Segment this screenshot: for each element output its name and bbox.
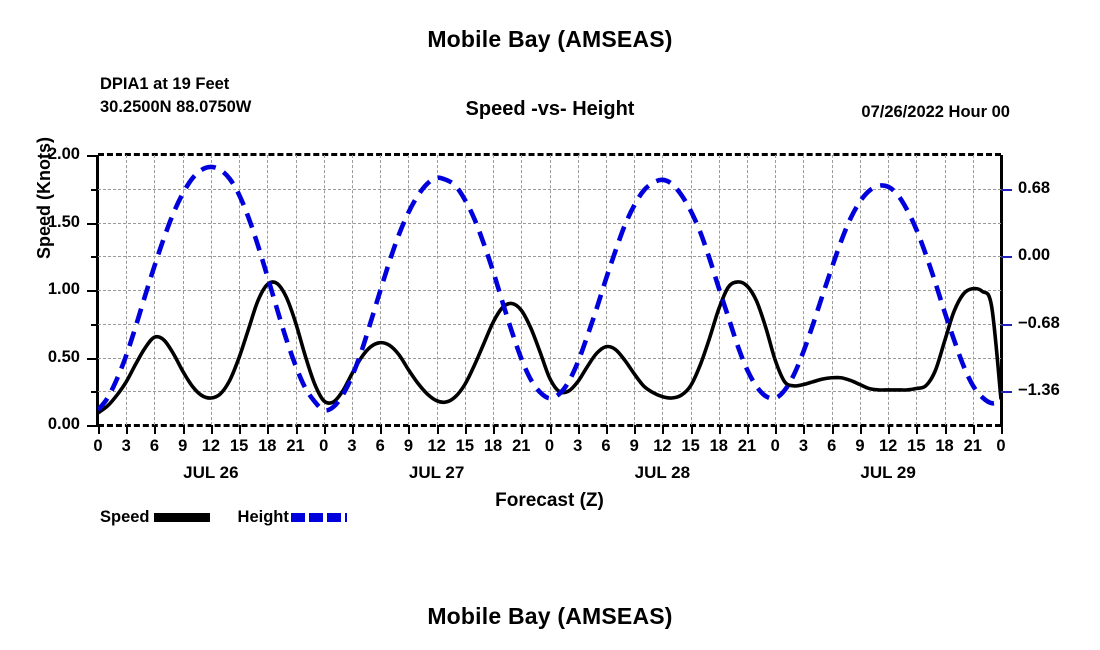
x-axis-tick [945,425,947,434]
x-axis-day-label: JUL 27 [367,463,507,483]
station-name-depth: DPIA1 at 19 Feet [100,73,251,96]
x-axis-tick [803,425,805,434]
x-axis-tick [98,425,100,434]
y-axis-right-tick [1001,189,1012,191]
y-axis-left-tick [87,155,98,157]
x-axis-tick [126,425,128,434]
legend-label-height: Height [238,508,289,527]
x-axis-tick [296,425,298,434]
y-axis-left-tick [87,223,98,225]
x-axis-tick [239,425,241,434]
legend-swatch-speed-line [154,513,210,522]
legend-item-speed: Speed [100,508,210,527]
x-axis-tick [1001,425,1003,434]
y-axis-right-tick [1001,256,1012,258]
data-curves [98,155,1001,425]
page-title-top: Mobile Bay (AMSEAS) [0,26,1100,53]
y-axis-left-tick [87,425,98,427]
x-axis-tick [832,425,834,434]
y-axis-right-tick [1001,324,1012,326]
x-axis-day-label: JUL 28 [592,463,732,483]
y-axis-left-minor-tick [91,256,98,258]
y-axis-left-tick-label: 0.00 [10,415,80,434]
x-axis-day-label: JUL 29 [818,463,958,483]
x-axis-tick-label: 0 [981,437,1021,456]
x-axis-tick [493,425,495,434]
chart-legend: Speed Height [100,508,347,527]
y-axis-left-minor-tick [91,391,98,393]
y-axis-left-minor-tick [91,189,98,191]
y-axis-left-title: Speed (Knots) [34,137,55,259]
x-axis-tick [973,425,975,434]
page-title-bottom: Mobile Bay (AMSEAS) [0,603,1100,630]
x-axis-tick [465,425,467,434]
plot-area: 0.000.501.001.502.00 −1.36−0.680.000.68 … [98,155,1001,425]
series-line-speed [98,282,1001,413]
x-axis-tick [380,425,382,434]
x-axis-tick [408,425,410,434]
y-axis-left-tick-label: 1.00 [10,280,80,299]
y-axis-left-tick [87,290,98,292]
y-axis-left-minor-tick [91,324,98,326]
x-axis-tick [183,425,185,434]
y-axis-right-tick-label: 0.00 [1018,246,1050,265]
x-axis-tick [606,425,608,434]
legend-label-speed: Speed [100,508,150,527]
x-axis-tick [521,425,523,434]
x-axis-tick [888,425,890,434]
x-axis-tick [578,425,580,434]
x-axis-tick [550,425,552,434]
y-axis-right-tick [1001,391,1012,393]
x-axis-tick [691,425,693,434]
x-axis-tick [437,425,439,434]
y-axis-left-tick-label: 0.50 [10,348,80,367]
model-run-timestamp: 07/26/2022 Hour 00 [861,103,1010,122]
y-axis-right-tick-label: −0.68 [1018,314,1060,333]
x-axis-tick [860,425,862,434]
y-axis-right-tick-label: −1.36 [1018,381,1060,400]
x-axis-tick [775,425,777,434]
x-axis-tick [634,425,636,434]
x-axis-tick [324,425,326,434]
y-axis-left-tick [87,358,98,360]
x-axis-tick [662,425,664,434]
x-axis-tick [747,425,749,434]
x-axis-tick [352,425,354,434]
chart-page: Mobile Bay (AMSEAS) DPIA1 at 19 Feet 30.… [0,0,1100,650]
legend-swatch-height-line [291,513,347,522]
x-axis-tick [211,425,213,434]
x-axis-day-label: JUL 26 [141,463,281,483]
x-axis-tick [154,425,156,434]
x-axis-tick [916,425,918,434]
x-axis-tick [267,425,269,434]
x-axis-tick [719,425,721,434]
legend-item-height: Height [238,508,347,527]
y-axis-right-tick-label: 0.68 [1018,179,1050,198]
